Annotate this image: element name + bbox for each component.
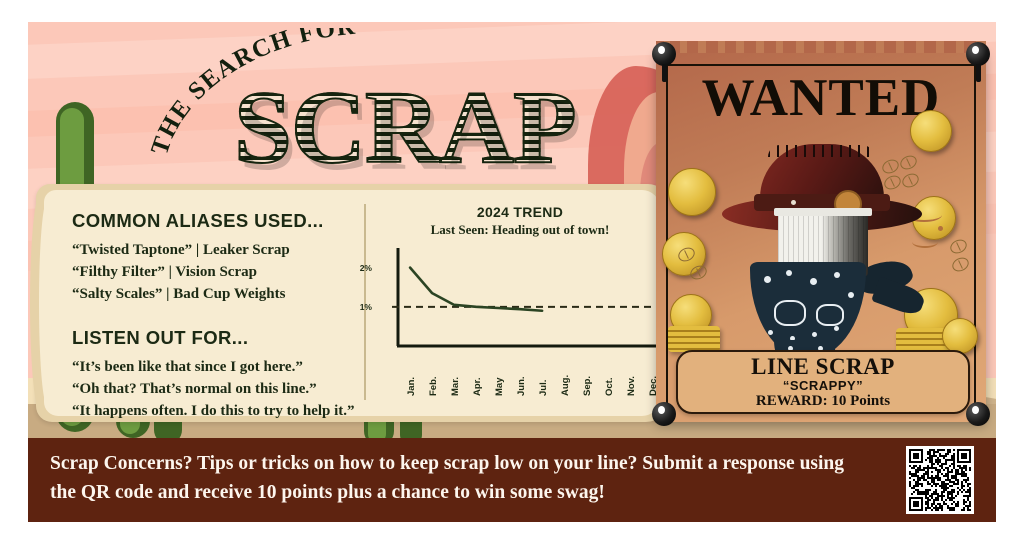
chart-x-tick-label: Jan. bbox=[406, 377, 417, 396]
gold-coin-icon bbox=[942, 318, 978, 354]
aliases-section: COMMON ALIASES USED... “Twisted Taptone”… bbox=[72, 210, 354, 423]
chart-x-tick-label: Jul. bbox=[538, 380, 549, 396]
chart-x-tick-label: Nov. bbox=[626, 376, 637, 396]
nail-icon bbox=[966, 42, 990, 66]
aliases-heading: COMMON ALIASES USED... bbox=[72, 210, 354, 232]
chart-title: 2024 TREND bbox=[376, 204, 664, 220]
bandana-tail bbox=[871, 276, 927, 318]
banner-text: Scrap Concerns? Tips or tricks on how to… bbox=[50, 450, 850, 508]
alias-item: “Salty Scales” | Bad Cup Weights bbox=[72, 284, 354, 306]
nail-icon bbox=[652, 402, 676, 426]
nail-pin-icon bbox=[976, 64, 981, 82]
title-word-scrap: SCRAP bbox=[234, 76, 576, 180]
qr-code-svg bbox=[909, 449, 971, 511]
reward-plate: LINE SCRAP “SCRAPPY” REWARD: 10 Points bbox=[676, 350, 970, 414]
quote-item: “Oh that? That’s normal on this line.” bbox=[72, 379, 354, 401]
gold-coin-icon bbox=[668, 168, 716, 216]
alias-item: “Filthy Filter” | Vision Scrap bbox=[72, 262, 354, 284]
chart-x-tick-label: Aug. bbox=[560, 375, 571, 396]
chart-y-tick-label: 2% bbox=[360, 263, 372, 273]
suspect-name: LINE SCRAP bbox=[678, 354, 968, 380]
chart-x-tick-label: Oct. bbox=[604, 378, 615, 396]
chart-x-tick-label: Mar. bbox=[450, 377, 461, 396]
chart-x-tick-label: Jun. bbox=[516, 376, 527, 396]
trend-chart: 2024 TREND Last Seen: Heading out of tow… bbox=[376, 204, 664, 404]
wanted-poster: WANTED bbox=[656, 50, 986, 422]
nail-icon bbox=[652, 42, 676, 66]
page-title: THE SEARCH FOR SCRAP bbox=[146, 28, 616, 198]
alias-item: “Twisted Taptone” | Leaker Scrap bbox=[72, 240, 354, 262]
coffee-filter-rim bbox=[774, 208, 872, 216]
parchment-card: COMMON ALIASES USED... “Twisted Taptone”… bbox=[36, 184, 668, 422]
nail-pin-icon bbox=[662, 64, 667, 82]
chart-svg bbox=[376, 248, 664, 354]
cowboy-hat-stitching bbox=[768, 145, 874, 157]
chart-subtitle: Last Seen: Heading out of town! bbox=[376, 222, 664, 238]
reward-text: REWARD: 10 Points bbox=[678, 393, 968, 410]
coffee-bean-icon bbox=[950, 255, 971, 274]
chart-y-tick-label: 1% bbox=[360, 302, 372, 312]
scrappy-character-illustration bbox=[716, 144, 928, 374]
decorative-dot bbox=[938, 226, 943, 231]
call-to-action-banner: Scrap Concerns? Tips or tricks on how to… bbox=[28, 438, 996, 522]
listen-heading: LISTEN OUT FOR... bbox=[72, 327, 354, 349]
qr-code[interactable] bbox=[906, 446, 974, 514]
quote-item: “It happens often. I do this to try to h… bbox=[72, 401, 354, 423]
cowboy-hat-stud bbox=[791, 200, 796, 205]
chart-x-tick-label: Feb. bbox=[428, 376, 439, 396]
chart-x-tick-label: Sep. bbox=[582, 376, 593, 396]
coin-stack-icon bbox=[668, 326, 720, 352]
chart-x-tick-label: Apr. bbox=[472, 378, 483, 396]
chart-plot-area: 2%1% bbox=[376, 248, 664, 354]
parchment-inner: COMMON ALIASES USED... “Twisted Taptone”… bbox=[44, 190, 660, 416]
poster-rule-top bbox=[666, 64, 976, 66]
quote-item: “It’s been like that since I got here.” bbox=[72, 357, 354, 379]
coffee-bean-icon bbox=[948, 237, 969, 256]
chart-x-axis-labels: Jan.Feb.Mar.Apr.MayJun.Jul.Aug.Sep.Oct.N… bbox=[398, 356, 664, 400]
infographic-poster: THE SEARCH FOR SCRAP COMMON ALIASES USED… bbox=[28, 22, 996, 522]
suspect-nickname: “SCRAPPY” bbox=[678, 378, 968, 393]
chart-x-tick-label: May bbox=[494, 378, 505, 396]
nail-icon bbox=[966, 402, 990, 426]
